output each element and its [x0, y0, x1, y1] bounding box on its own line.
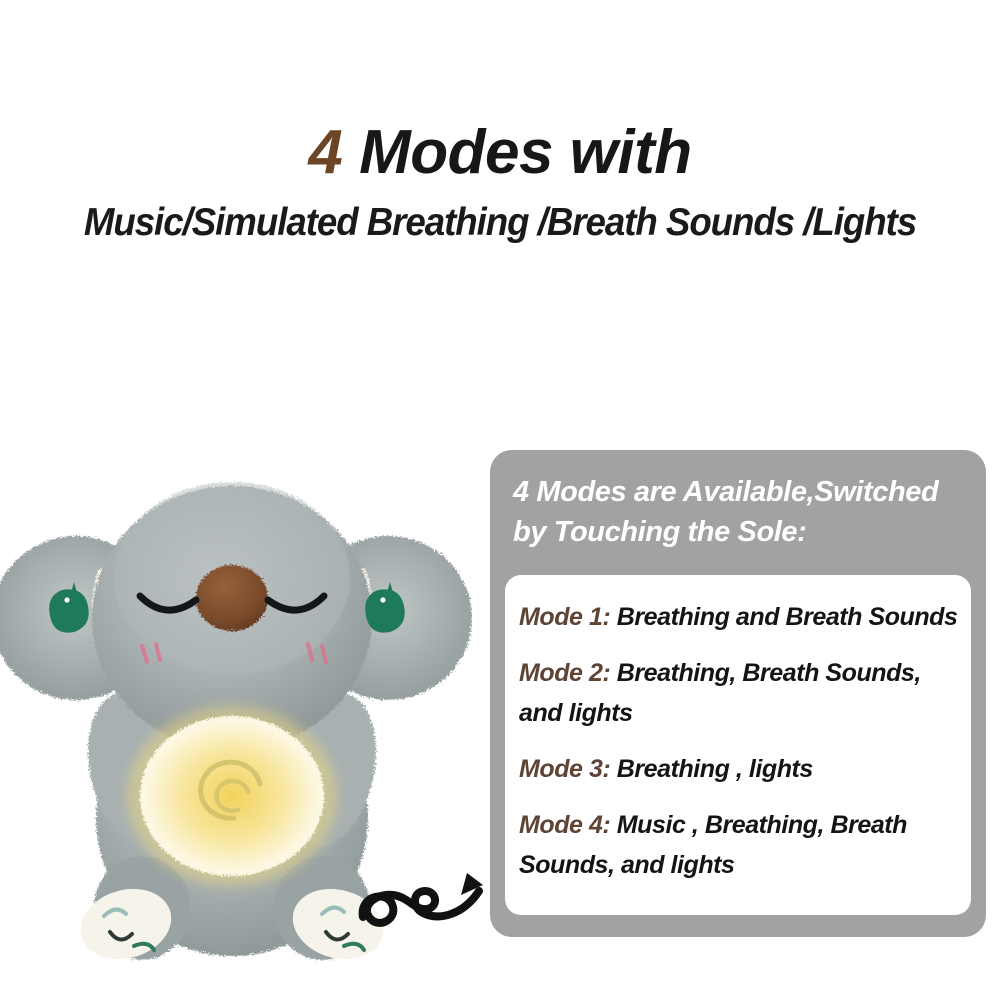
- title-rest: Modes with: [342, 118, 691, 187]
- mode-label-3: Mode 3:: [519, 755, 610, 783]
- mode-text-1: Breathing and Breath Sounds: [610, 603, 957, 631]
- title-number: 4: [308, 118, 342, 187]
- glowing-belly: [127, 706, 337, 886]
- panel-title: 4 Modes are Available,Switched by Touchi…: [513, 472, 965, 552]
- mode-item-1: Mode 1: Breathing and Breath Sounds: [519, 597, 959, 637]
- page-title: 4 Modes with: [0, 118, 1000, 188]
- product-marketing-image: 4 Modes with Music/Simulated Breathing /…: [0, 0, 1000, 1000]
- mode-item-3: Mode 3: Breathing , lights: [519, 749, 959, 789]
- mode-label-1: Mode 1:: [519, 603, 610, 631]
- page-subtitle: Music/Simulated Breathing /Breath Sounds…: [30, 199, 970, 247]
- koala-nose: [196, 565, 268, 631]
- mode-text-3: Breathing , lights: [610, 755, 813, 783]
- mode-label-4: Mode 4:: [519, 811, 610, 839]
- modes-list-card: Mode 1: Breathing and Breath Sounds Mode…: [505, 575, 971, 915]
- mode-item-4: Mode 4: Music , Breathing, Breath Sounds…: [519, 805, 959, 885]
- panel-title-line1: 4 Modes are Available,Switched: [513, 472, 965, 512]
- panel-title-line2: by Touching the Sole:: [513, 512, 965, 552]
- mode-item-2: Mode 2: Breathing, Breath Sounds, and li…: [519, 653, 959, 733]
- modes-info-panel: 4 Modes are Available,Switched by Touchi…: [490, 450, 986, 937]
- mode-label-2: Mode 2:: [519, 659, 610, 687]
